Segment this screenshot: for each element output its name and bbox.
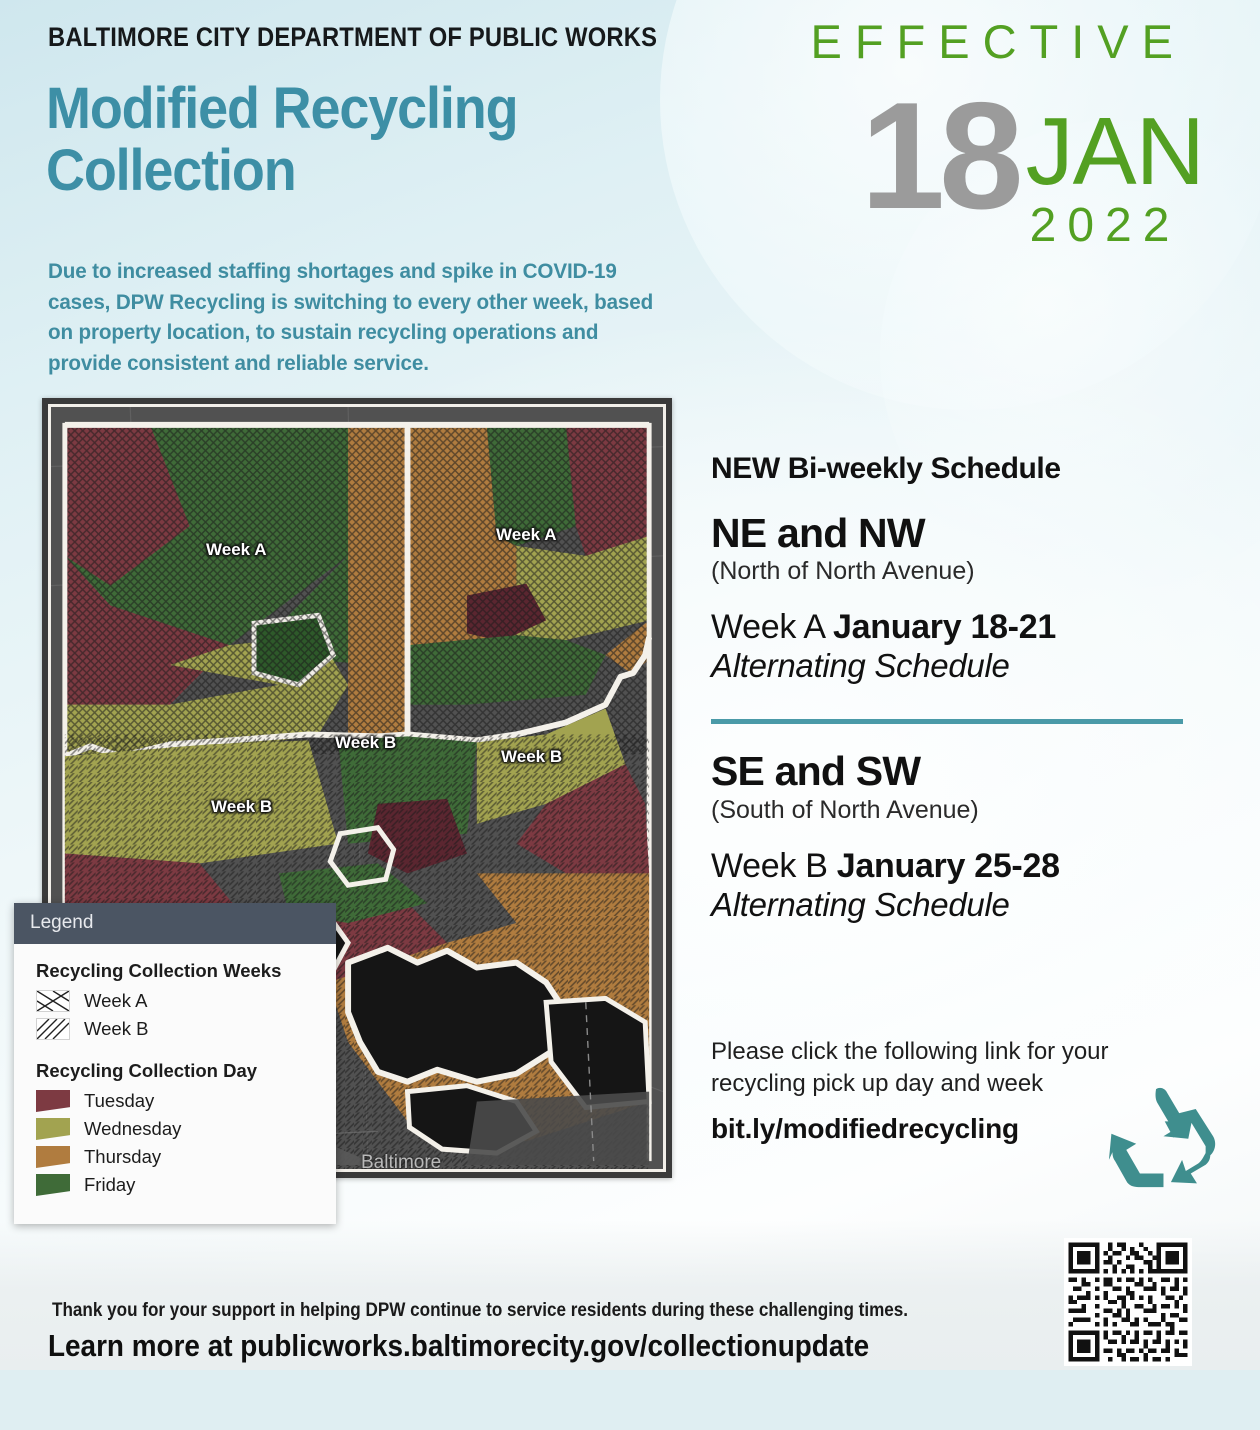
legend-body: Recycling Collection Weeks Week A Wee: [14, 944, 336, 1224]
effective-year: 2022: [1030, 201, 1204, 251]
schedule-region: SE and SW: [711, 750, 1191, 793]
legend-label: Friday: [84, 1174, 135, 1196]
color-swatch-wednesday: [36, 1118, 70, 1140]
schedule-region: NE and NW: [711, 512, 1191, 555]
schedule-week-dates: January 18-21: [833, 608, 1056, 646]
schedule-week-label: Week A: [711, 608, 833, 646]
schedule-week-line: Week B January 25-28: [711, 847, 1191, 886]
legend-label: Wednesday: [84, 1118, 181, 1140]
schedule-week-dates: January 25-28: [837, 847, 1060, 885]
schedule-heading: NEW Bi-weekly Schedule: [711, 452, 1191, 486]
map-legend[interactable]: Legend Recycling Collection Weeks Week A: [14, 903, 336, 1224]
legend-label: Tuesday: [84, 1090, 154, 1112]
map-week-a-zones: [65, 425, 649, 754]
footer-learn-more-url[interactable]: Learn more at publicworks.baltimorecity.…: [48, 1328, 869, 1364]
legend-label: Thursday: [84, 1146, 161, 1168]
schedule-block-north: NE and NW (North of North Avenue) Week A…: [711, 512, 1191, 685]
schedule-week-label: Week B: [711, 847, 837, 885]
legend-item-week-b: Week B: [36, 1018, 320, 1040]
footer-thanks-text: Thank you for your support in helping DP…: [52, 1300, 908, 1322]
schedule-panel: NEW Bi-weekly Schedule NE and NW (North …: [711, 452, 1191, 924]
color-swatch-thursday: [36, 1146, 70, 1168]
legend-item-friday: Friday: [36, 1174, 320, 1196]
legend-label: Week B: [84, 1018, 148, 1040]
color-swatch-friday: [36, 1174, 70, 1196]
color-swatch-tuesday: [36, 1090, 70, 1112]
recycling-symbol-icon: [1099, 1084, 1223, 1196]
effective-date: 18 JAN 2022: [861, 94, 1204, 251]
legend-header: Legend: [14, 903, 336, 944]
legend-days-group: Recycling Collection Day Tuesday Wednesd…: [36, 1060, 320, 1196]
schedule-divider: [711, 719, 1183, 724]
schedule-week-line: Week A January 18-21: [711, 608, 1191, 647]
schedule-alternating: Alternating Schedule: [711, 886, 1191, 924]
qr-code[interactable]: [1048, 1238, 1208, 1366]
legend-days-title: Recycling Collection Day: [36, 1060, 320, 1082]
legend-item-wednesday: Wednesday: [36, 1118, 320, 1140]
legend-label: Week A: [84, 990, 147, 1012]
page-title: Modified Recycling Collection: [46, 78, 660, 202]
map-city-label: Baltimore: [361, 1152, 441, 1172]
diagonal-hatch-icon: [37, 1019, 69, 1039]
crosshatch-pattern-icon: [36, 990, 70, 1012]
legend-weeks-title: Recycling Collection Weeks: [36, 960, 320, 982]
crosshatch-icon: [37, 991, 69, 1011]
schedule-region-note: (North of North Avenue): [711, 557, 1191, 586]
link-block: Please click the following link for your…: [711, 1036, 1181, 1145]
schedule-alternating: Alternating Schedule: [711, 647, 1191, 685]
effective-day: 18: [861, 94, 1018, 219]
link-instruction-line1: Please click the following link for your: [711, 1036, 1181, 1068]
schedule-region-note: (South of North Avenue): [711, 796, 1191, 825]
effective-month: JAN: [1026, 112, 1204, 193]
legend-item-tuesday: Tuesday: [36, 1090, 320, 1112]
schedule-block-south: SE and SW (South of North Avenue) Week B…: [711, 750, 1191, 923]
intro-paragraph: Due to increased staffing shortages and …: [48, 256, 672, 378]
effective-label: EFFECTIVE: [810, 14, 1186, 69]
legend-item-week-a: Week A: [36, 990, 320, 1012]
diagonal-pattern-icon: [36, 1018, 70, 1040]
legend-item-thursday: Thursday: [36, 1146, 320, 1168]
department-name: BALTIMORE CITY DEPARTMENT OF PUBLIC WORK…: [48, 22, 657, 53]
